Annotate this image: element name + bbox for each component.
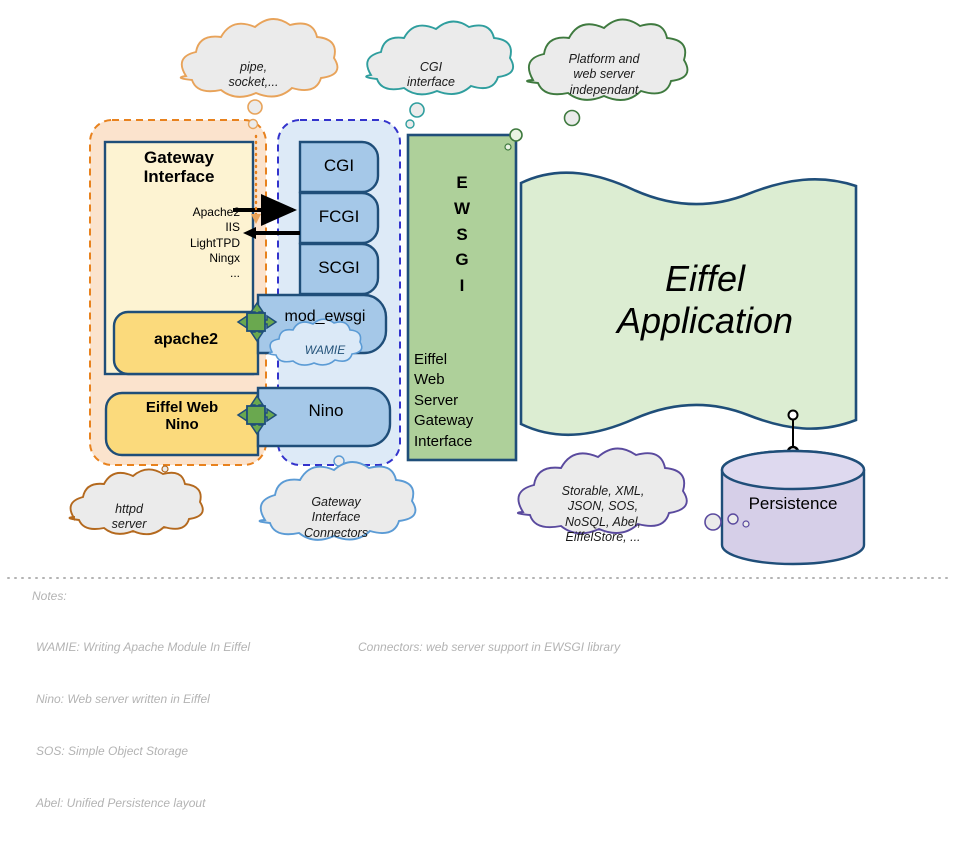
cloud-label-cgi-interface: CGI interface: [371, 60, 491, 91]
cloud-line: socket,...: [186, 75, 321, 90]
cloud-line: Platform and: [538, 52, 670, 67]
notes-left-column: WAMIE: Writing Apache Module In Eiffel N…: [36, 604, 250, 847]
cloud-line: NoSQL, Abel,: [528, 515, 678, 530]
cloud-line: Interface: [272, 510, 400, 525]
cloud-line: interface: [371, 75, 491, 90]
cloud-line: web server: [538, 67, 670, 82]
gateway-interface-server-list: Apache2 IIS LightTPD Ningx ...: [105, 205, 240, 282]
ewsgi-expansion-line: Interface: [414, 432, 514, 452]
ewsgi-expansion-line: Web: [414, 370, 514, 390]
note-line: Nino: Web server written in Eiffel: [36, 691, 250, 708]
persistence-label: Persistence: [722, 494, 864, 513]
gateway-interface-title-line: Interface: [105, 167, 253, 186]
ewsgi-acronym: E W S G I: [408, 170, 516, 299]
cloud-line: Gateway: [272, 495, 400, 510]
ewsgi-letter: G: [408, 247, 516, 273]
cloud-label-httpd-server: httpd server: [74, 502, 184, 533]
eiffel-web-nino-line: Eiffel Web: [106, 400, 258, 417]
cgi-label: CGI: [300, 156, 378, 175]
scgi-label: SCGI: [300, 258, 378, 277]
cloud-label-platform-independant: Platform and web server independant: [538, 52, 670, 98]
bubble-trail-cgi: [406, 103, 424, 128]
apache2-label: apache2: [114, 331, 258, 349]
ewsgi-expansion-line: Gateway: [414, 411, 514, 431]
mod-ewsgi-label: mod_ewsgi: [266, 308, 384, 326]
eiffel-application-line: Eiffel: [560, 258, 850, 300]
server-list-item: ...: [105, 266, 240, 281]
server-list-item: IIS: [105, 220, 240, 235]
cloud-line: EiffelStore, ...: [528, 530, 678, 545]
cloud-line: Connectors: [272, 526, 400, 541]
server-list-item: LightTPD: [105, 236, 240, 251]
ewsgi-expansion: Eiffel Web Server Gateway Interface: [414, 350, 514, 452]
server-list-item: Ningx: [105, 251, 240, 266]
ewsgi-expansion-line: Eiffel: [414, 350, 514, 370]
bubble-trail-platform: [565, 111, 580, 126]
note-line: SOS: Simple Object Storage: [36, 743, 250, 760]
note-line: WAMIE: Writing Apache Module In Eiffel: [36, 639, 250, 656]
eiffel-web-nino-line: Nino: [106, 417, 258, 434]
cloud-label-gateway-interface-connectors: Gateway Interface Connectors: [272, 495, 400, 541]
fcgi-label: FCGI: [300, 207, 378, 226]
cloud-line: WAMIE: [272, 343, 378, 358]
nino-label: Nino: [266, 401, 386, 420]
ewsgi-letter: I: [408, 273, 516, 299]
server-list-item: Apache2: [105, 205, 240, 220]
ewsgi-letter: S: [408, 222, 516, 248]
cloud-line: independant: [538, 83, 670, 98]
eiffel-application-line: Application: [560, 300, 850, 342]
cloud-line: server: [74, 517, 184, 532]
notes-heading: Notes:: [32, 588, 67, 605]
cloud-label-wamie: WAMIE: [272, 343, 378, 358]
gateway-interface-title: Gateway Interface: [105, 148, 253, 186]
cloud-line: Storable, XML,: [528, 484, 678, 499]
note-line: Abel: Unified Persistence layout: [36, 795, 250, 812]
cloud-line: CGI: [371, 60, 491, 75]
note-line: Connectors: web server support in EWSGI …: [358, 639, 620, 656]
cloud-line: pipe,: [186, 60, 321, 75]
gateway-interface-title-line: Gateway: [105, 148, 253, 167]
ewsgi-letter: E: [408, 170, 516, 196]
cloud-line: JSON, SOS,: [528, 499, 678, 514]
eiffel-web-nino-label: Eiffel Web Nino: [106, 400, 258, 434]
eiffel-application-label: Eiffel Application: [560, 258, 850, 343]
ewsgi-letter: W: [408, 196, 516, 222]
cloud-line: httpd: [74, 502, 184, 517]
diagram-canvas: pipe, socket,... CGI interface Platform …: [0, 0, 960, 720]
cloud-label-pipe-socket: pipe, socket,...: [186, 60, 321, 91]
ewsgi-expansion-line: Server: [414, 391, 514, 411]
notes-right-column: Connectors: web server support in EWSGI …: [358, 604, 620, 691]
cloud-label-persistence-options: Storable, XML, JSON, SOS, NoSQL, Abel, E…: [528, 484, 678, 545]
